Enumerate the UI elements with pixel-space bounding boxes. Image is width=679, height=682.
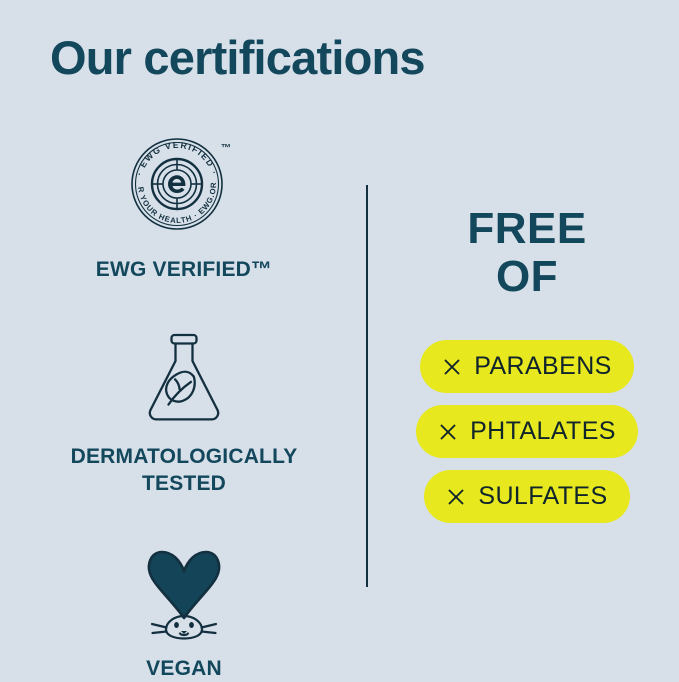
free-of-item-parabens: PARABENS bbox=[420, 340, 634, 393]
free-of-list: PARABENS PHTALATES bbox=[396, 340, 658, 523]
x-icon bbox=[442, 357, 462, 377]
certification-label-ewg-verified: EWG VERIFIED™ bbox=[96, 257, 272, 283]
x-icon bbox=[446, 487, 466, 507]
free-of-item-phtalates: PHTALATES bbox=[416, 405, 638, 458]
free-of-label-sulfates: SULFATES bbox=[478, 482, 607, 511]
free-of-heading: FREE OF bbox=[467, 205, 586, 300]
page-title: Our certifications bbox=[50, 32, 425, 84]
flask-with-leaf-icon bbox=[141, 331, 227, 432]
certifications-infographic: Our certifications · EWG VERIFIED · bbox=[0, 0, 679, 679]
x-icon bbox=[438, 422, 458, 442]
certification-item-ewg-verified: · EWG VERIFIED · · FOR YOUR HEALTH · EWG… bbox=[28, 132, 340, 283]
free-of-label-parabens: PARABENS bbox=[474, 352, 612, 381]
free-of-item-sulfates: SULFATES bbox=[424, 470, 629, 523]
ewg-verified-seal-icon: · EWG VERIFIED · · FOR YOUR HEALTH · EWG… bbox=[125, 132, 243, 241]
certification-item-vegan: VEGAN bbox=[28, 545, 340, 682]
certification-item-dermatologically-tested: DERMATOLOGICALLY TESTED bbox=[28, 331, 340, 497]
free-of-label-phtalates: PHTALATES bbox=[470, 417, 616, 446]
certifications-column: · EWG VERIFIED · · FOR YOUR HEALTH · EWG… bbox=[28, 130, 340, 682]
rabbit-heart-ears-icon bbox=[128, 545, 240, 646]
certification-label-vegan: VEGAN bbox=[146, 656, 222, 682]
free-of-column: FREE OF PARABENS bbox=[396, 205, 658, 523]
svg-text:™: ™ bbox=[221, 143, 231, 154]
column-divider bbox=[366, 185, 368, 587]
certification-label-dermatologically-tested: DERMATOLOGICALLY TESTED bbox=[71, 444, 298, 497]
